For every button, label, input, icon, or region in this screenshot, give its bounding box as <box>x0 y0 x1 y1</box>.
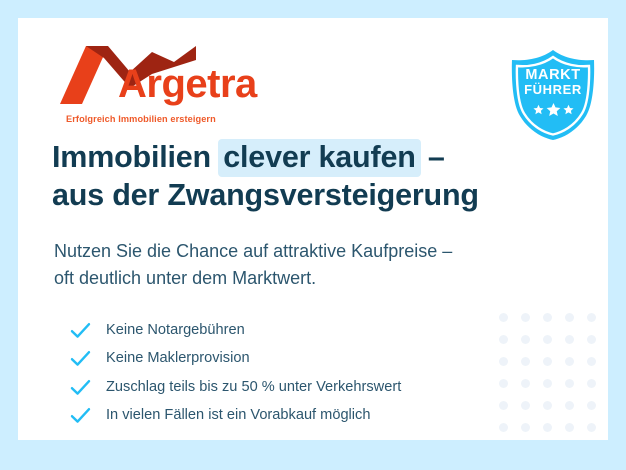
grid-dot <box>587 335 596 344</box>
page-title: Immobilien clever kaufen – aus der Zwang… <box>52 138 572 215</box>
promo-banner: Argetra Erfolgreich Immobilien ersteiger… <box>0 0 626 470</box>
grid-dot <box>543 335 552 344</box>
grid-dot <box>543 379 552 388</box>
grid-dot <box>543 313 552 322</box>
list-item: In vielen Fällen ist ein Vorabkauf mögli… <box>70 402 540 431</box>
check-icon <box>70 350 94 368</box>
subheadline: Nutzen Sie die Chance auf attraktive Kau… <box>54 238 574 293</box>
grid-dot <box>587 401 596 410</box>
list-item: Zuschlag teils bis zu 50 % unter Verkehr… <box>70 373 540 402</box>
list-item: Keine Maklerprovision <box>70 345 540 374</box>
grid-dot <box>587 423 596 432</box>
grid-dot <box>543 423 552 432</box>
shield-badge-icon <box>505 48 601 142</box>
grid-dot <box>565 423 574 432</box>
list-item-label: In vielen Fällen ist ein Vorabkauf mögli… <box>106 407 370 425</box>
grid-dot <box>565 335 574 344</box>
grid-dot <box>587 379 596 388</box>
argetra-tagline: Erfolgreich Immobilien ersteigern <box>66 114 216 124</box>
headline-line-2: aus der Zwangsversteigerung <box>52 176 572 214</box>
check-icon <box>70 407 94 425</box>
list-item-label: Keine Notargebühren <box>106 322 245 340</box>
grid-dot <box>543 357 552 366</box>
grid-dot <box>565 401 574 410</box>
check-icon <box>70 321 94 339</box>
subheadline-line-1: Nutzen Sie die Chance auf attraktive Kau… <box>54 238 574 265</box>
headline-highlight: clever kaufen <box>218 139 420 177</box>
check-icon <box>70 378 94 396</box>
market-leader-badge: MARKT FÜHRER <box>505 48 601 142</box>
grid-dot <box>587 313 596 322</box>
benefit-list: Keine NotargebührenKeine Maklerprovision… <box>70 316 540 430</box>
grid-dot <box>543 401 552 410</box>
subheadline-line-2: oft deutlich unter dem Marktwert. <box>54 265 574 292</box>
list-item-label: Keine Maklerprovision <box>106 350 250 368</box>
banner-card: Argetra Erfolgreich Immobilien ersteiger… <box>18 18 608 440</box>
grid-dot <box>565 379 574 388</box>
grid-dot <box>587 357 596 366</box>
list-item: Keine Notargebühren <box>70 316 540 345</box>
headline-text-after: – <box>420 140 445 174</box>
headline-line-1: Immobilien clever kaufen – <box>52 138 572 176</box>
grid-dot <box>565 313 574 322</box>
grid-dot <box>565 357 574 366</box>
argetra-logo[interactable]: Argetra Erfolgreich Immobilien ersteiger… <box>56 44 316 130</box>
argetra-wordmark: Argetra <box>118 64 257 104</box>
headline-text-before: Immobilien <box>52 140 219 174</box>
list-item-label: Zuschlag teils bis zu 50 % unter Verkehr… <box>106 379 401 397</box>
